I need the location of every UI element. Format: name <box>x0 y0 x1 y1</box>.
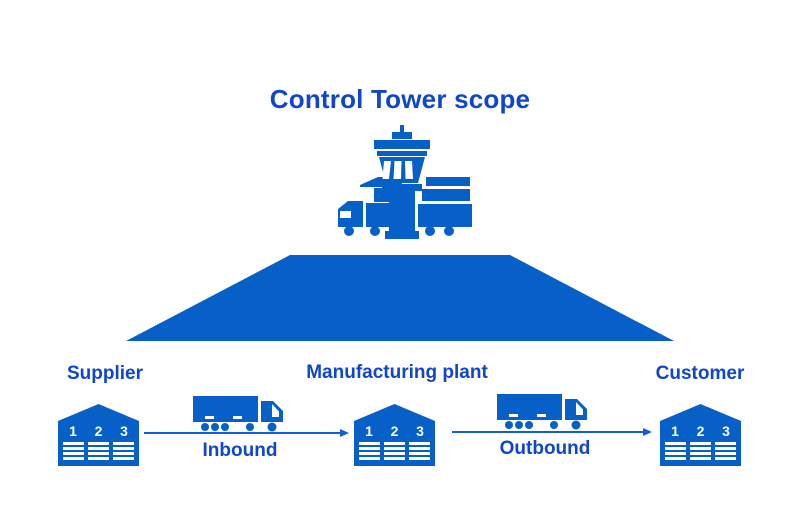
scope-trapezoid <box>126 255 674 343</box>
flow-label-outbound: Outbound <box>460 438 630 460</box>
bay-number-2: 2 <box>391 423 399 439</box>
bay-number-1: 1 <box>671 423 679 439</box>
arrow-right-icon-inbound <box>144 426 349 438</box>
node-label-customer: Customer <box>620 363 780 385</box>
bay-number-3: 3 <box>722 423 730 439</box>
bay-number-1: 1 <box>365 423 373 439</box>
node-label-supplier: Supplier <box>30 363 180 385</box>
control-tower-with-trucks-icon <box>330 125 475 243</box>
bay-number-3: 3 <box>416 423 424 439</box>
bay-number-2: 2 <box>95 423 103 439</box>
bay-number-3: 3 <box>120 423 128 439</box>
bay-number-2: 2 <box>697 423 705 439</box>
warehouse-icon-manufacturing-plant: 1 2 3 <box>354 404 435 466</box>
warehouse-icon-supplier: 1 2 3 <box>58 404 139 466</box>
bay-number-1: 1 <box>69 423 77 439</box>
arrow-right-icon-outbound <box>452 425 652 437</box>
flow-label-inbound: Inbound <box>155 440 325 462</box>
control-tower-scope-diagram: Control Tower scope <box>0 0 800 530</box>
page-title: Control Tower scope <box>0 84 800 115</box>
warehouse-icon-customer: 1 2 3 <box>660 404 741 466</box>
node-label-manufacturing-plant: Manufacturing plant <box>297 362 497 384</box>
